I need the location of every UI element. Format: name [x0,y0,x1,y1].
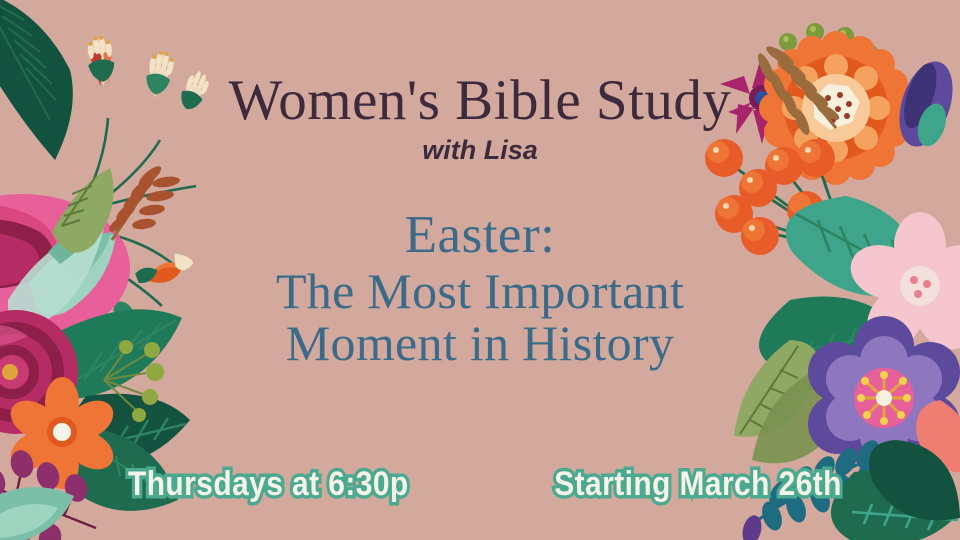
bud-purple-topright [890,55,960,154]
leaf-mint-succulent-bottom [0,487,74,540]
headline-line-3: Moment in History [276,318,684,369]
leaf-darkgreen-bottomright-2 [869,440,960,520]
leaf-olive-striped [52,168,114,253]
petal-coral-right [916,400,960,472]
flower-daisy-orange [4,377,120,489]
leaf-darkgreen-bottomright [831,470,960,540]
flower-peony-pink [0,194,130,342]
text-content-block: Women's Bible Study with Lisa Easter: Th… [170,0,790,540]
flower-anemone-purple [808,316,960,480]
leaf-teal-large-1 [786,196,932,296]
fern-brown [112,168,160,240]
poster-canvas: Women's Bible Study with Lisa Easter: Th… [0,0,960,540]
leaf-banana-topleft [0,0,73,160]
poster-subtitle: with Lisa [422,135,538,166]
leaves-mint-agave [8,224,116,328]
sprig-purple-berries [0,448,96,540]
poster-title: Women's Bible Study [229,72,732,129]
sprig-green-berries [104,340,164,422]
poster-headline: Easter: The Most Important Moment in His… [276,208,684,369]
flower-blossom-pink [844,212,960,361]
leaf-darkgreen-large-1 [53,309,182,398]
banner-schedule-day-time: Thursdays at 6:30p [128,465,409,504]
flower-rose-magenta [0,310,78,434]
headline-line-1: Easter: [276,208,684,262]
headline-line-2: The Most Important [276,266,684,317]
banner-start-date: Starting March 26th [554,465,842,504]
